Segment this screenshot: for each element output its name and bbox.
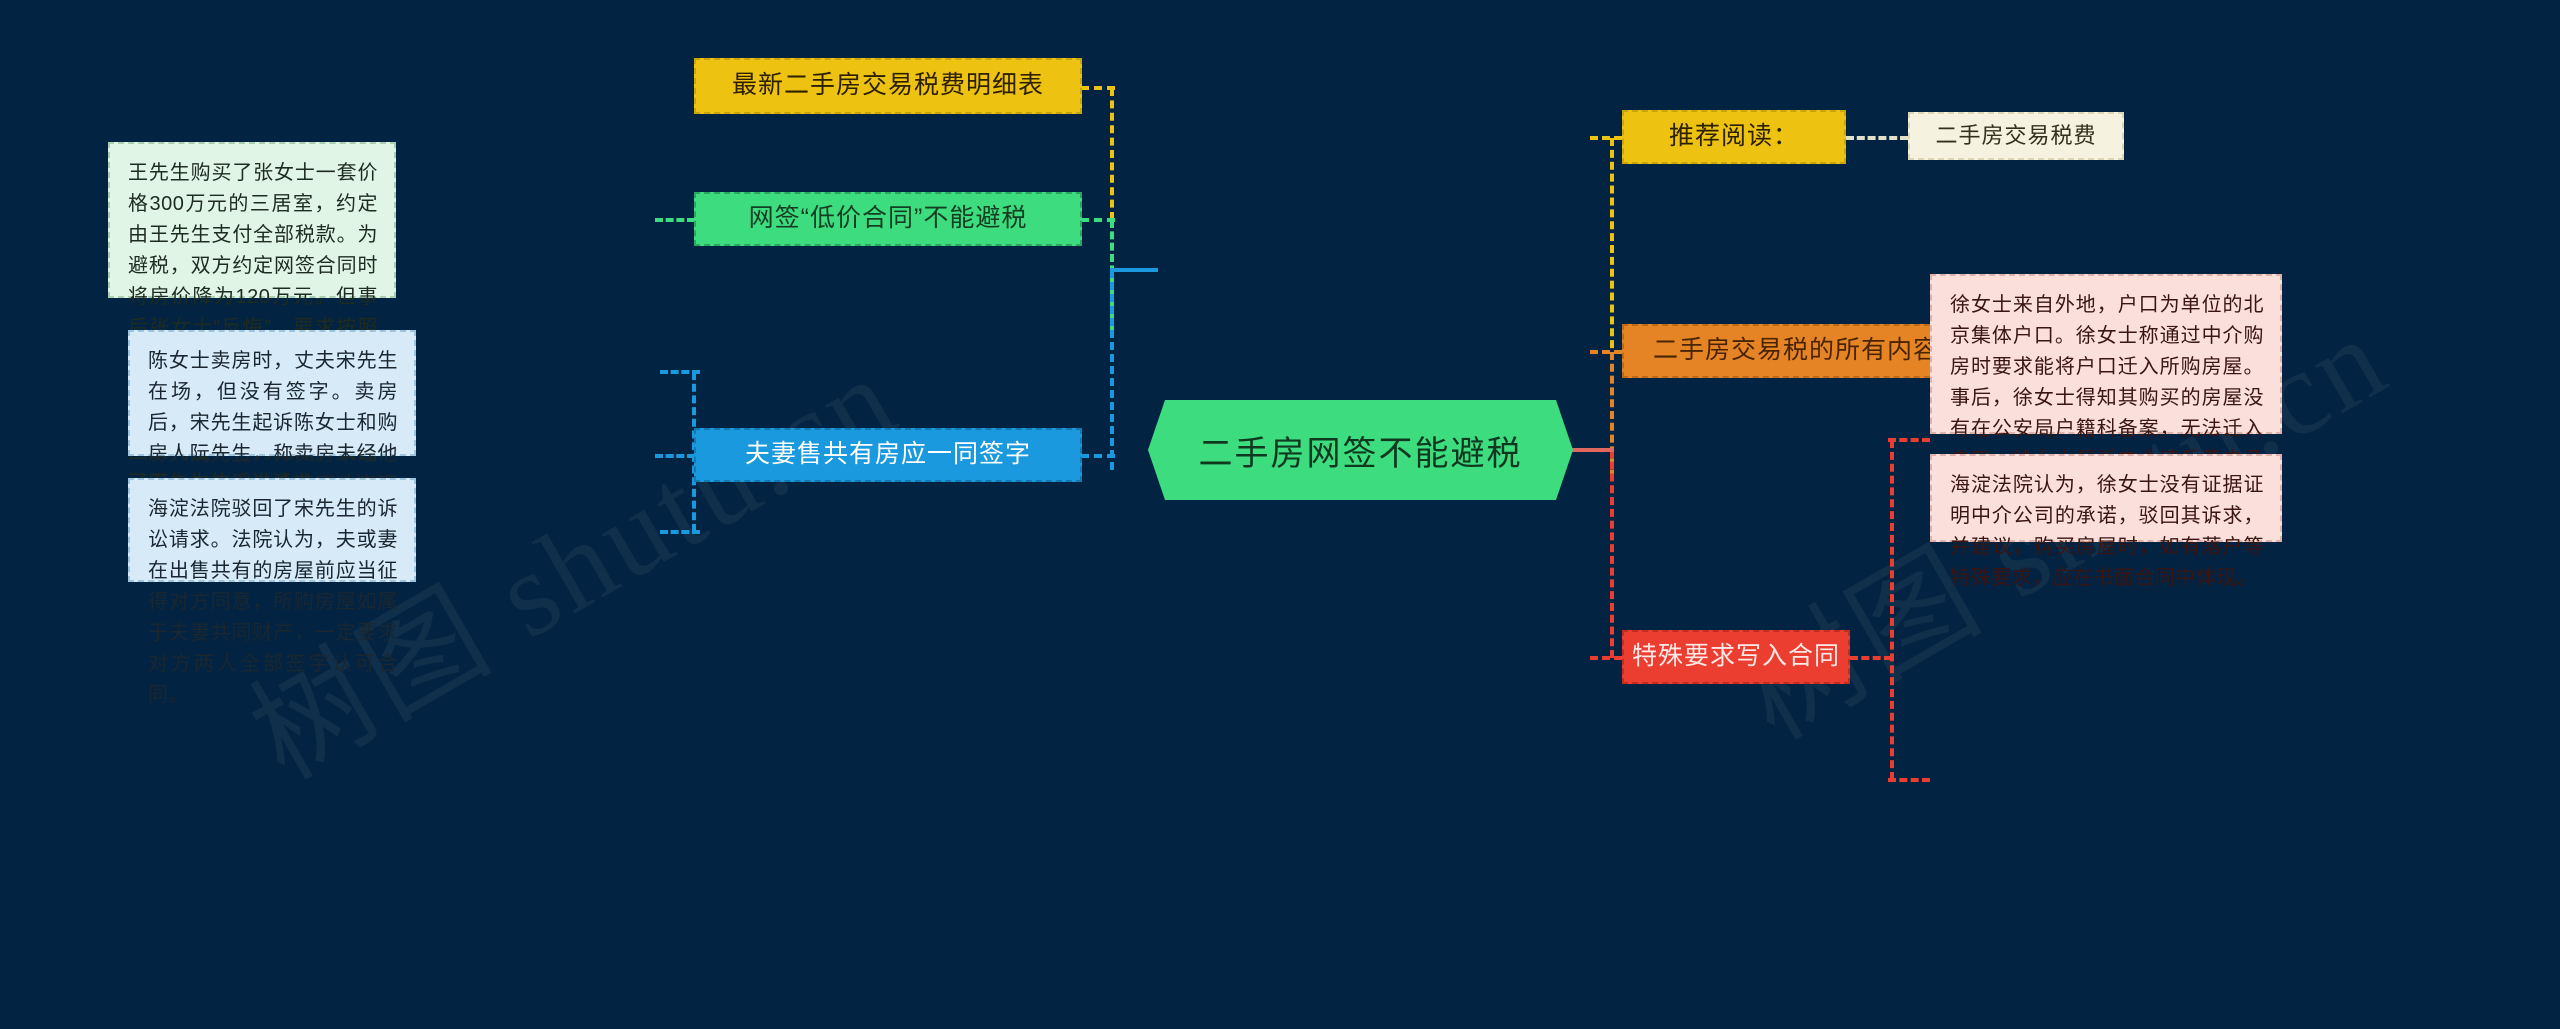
- node-low-price-contract[interactable]: 网签“低价合同”不能避税: [694, 192, 1082, 246]
- node-label: 最新二手房交易税费明细表: [732, 72, 1044, 100]
- panel-text: 海淀法院驳回了宋先生的诉讼请求。法院认为，夫或妻在出售共有的房屋前应当征得对方同…: [148, 498, 398, 706]
- node-label: 夫妻售共有房应一同签字: [745, 441, 1031, 469]
- connector-right-red-stub: [1590, 656, 1622, 660]
- connector-right-orange-stub: [1590, 350, 1622, 354]
- node-spouse-cosign[interactable]: 夫妻售共有房应一同签字: [694, 428, 1082, 482]
- connector-left-green-stub: [1081, 218, 1115, 222]
- panel-text: 海淀法院认为，徐女士没有证据证明中介公司的承诺，驳回其诉求，并建议，购买房屋时，…: [1950, 474, 2264, 589]
- connector-left-blue-stub: [1081, 454, 1115, 458]
- panel-case-xu-ruling: 海淀法院认为，徐女士没有证据证明中介公司的承诺，驳回其诉求，并建议，购买房屋时，…: [1930, 454, 2282, 542]
- connector-left-yellow-stub: [1081, 86, 1115, 90]
- connector-right-orange-spine: [1610, 352, 1614, 478]
- connector-to-case-chen-ruling: [660, 530, 700, 534]
- mindmap-canvas: 树图 shutu.cn 树图 shutu.cn 二手房网签不能避税 最新二手房交…: [0, 0, 2560, 1029]
- node-all-tax-content[interactable]: 二手房交易税的所有内容: [1622, 324, 1970, 378]
- node-tax-detail-table[interactable]: 最新二手房交易税费明细表: [694, 58, 1082, 114]
- connector-right-yellow-spine: [1610, 138, 1614, 360]
- connector-blue-left-stub: [655, 454, 695, 458]
- center-node[interactable]: 二手房网签不能避税: [1148, 400, 1573, 500]
- connector-to-case-chen: [660, 370, 700, 374]
- panel-case-xu: 徐女士来自外地，户口为单位的北京集体户口。徐女士称通过中介购房时要求能将户口迁入…: [1930, 274, 2282, 434]
- connector-right-red-spine: [1610, 450, 1614, 658]
- node-label: 推荐阅读：: [1669, 123, 1799, 151]
- panel-case-wang: 王先生购买了张女士一套价格300万元的三居室，约定由王先生支付全部税款。为避税，…: [108, 142, 396, 298]
- connector-left-blue-spine: [1110, 270, 1114, 470]
- panel-case-chen-ruling: 海淀法院驳回了宋先生的诉讼请求。法院认为，夫或妻在出售共有的房屋前应当征得对方同…: [128, 478, 416, 582]
- node-label: 二手房交易税的所有内容: [1653, 337, 1939, 365]
- connector-left-green-spine: [1110, 220, 1114, 330]
- center-node-label: 二手房网签不能避税: [1199, 426, 1523, 475]
- connector-right-yellow-stub: [1590, 136, 1622, 140]
- connector-red-panel-spine: [1890, 440, 1894, 780]
- connector-to-case-xu: [1888, 438, 1930, 442]
- connector-left-yellow-spine: [1110, 88, 1114, 220]
- connector-right-center-anchor: [1566, 448, 1614, 452]
- connector-recommended-link: [1846, 136, 1908, 140]
- connector-left-center-anchor: [1110, 268, 1158, 272]
- node-label: 二手房交易税费: [1935, 124, 2096, 148]
- node-special-terms[interactable]: 特殊要求写入合同: [1622, 630, 1850, 684]
- node-label: 网签“低价合同”不能避税: [749, 205, 1028, 233]
- node-recommended-reading[interactable]: 推荐阅读：: [1622, 110, 1846, 164]
- connector-to-case-xu-ruling: [1888, 778, 1930, 782]
- connector-red-right-stub: [1850, 656, 1892, 660]
- panel-case-chen: 陈女士卖房时，丈夫宋先生在场，但没有签字。卖房后，宋先生起诉陈女士和购房人阮先生…: [128, 330, 416, 456]
- node-label: 特殊要求写入合同: [1632, 643, 1840, 671]
- connector-green-to-case-wang: [655, 218, 695, 222]
- node-recommended-link[interactable]: 二手房交易税费: [1908, 112, 2124, 160]
